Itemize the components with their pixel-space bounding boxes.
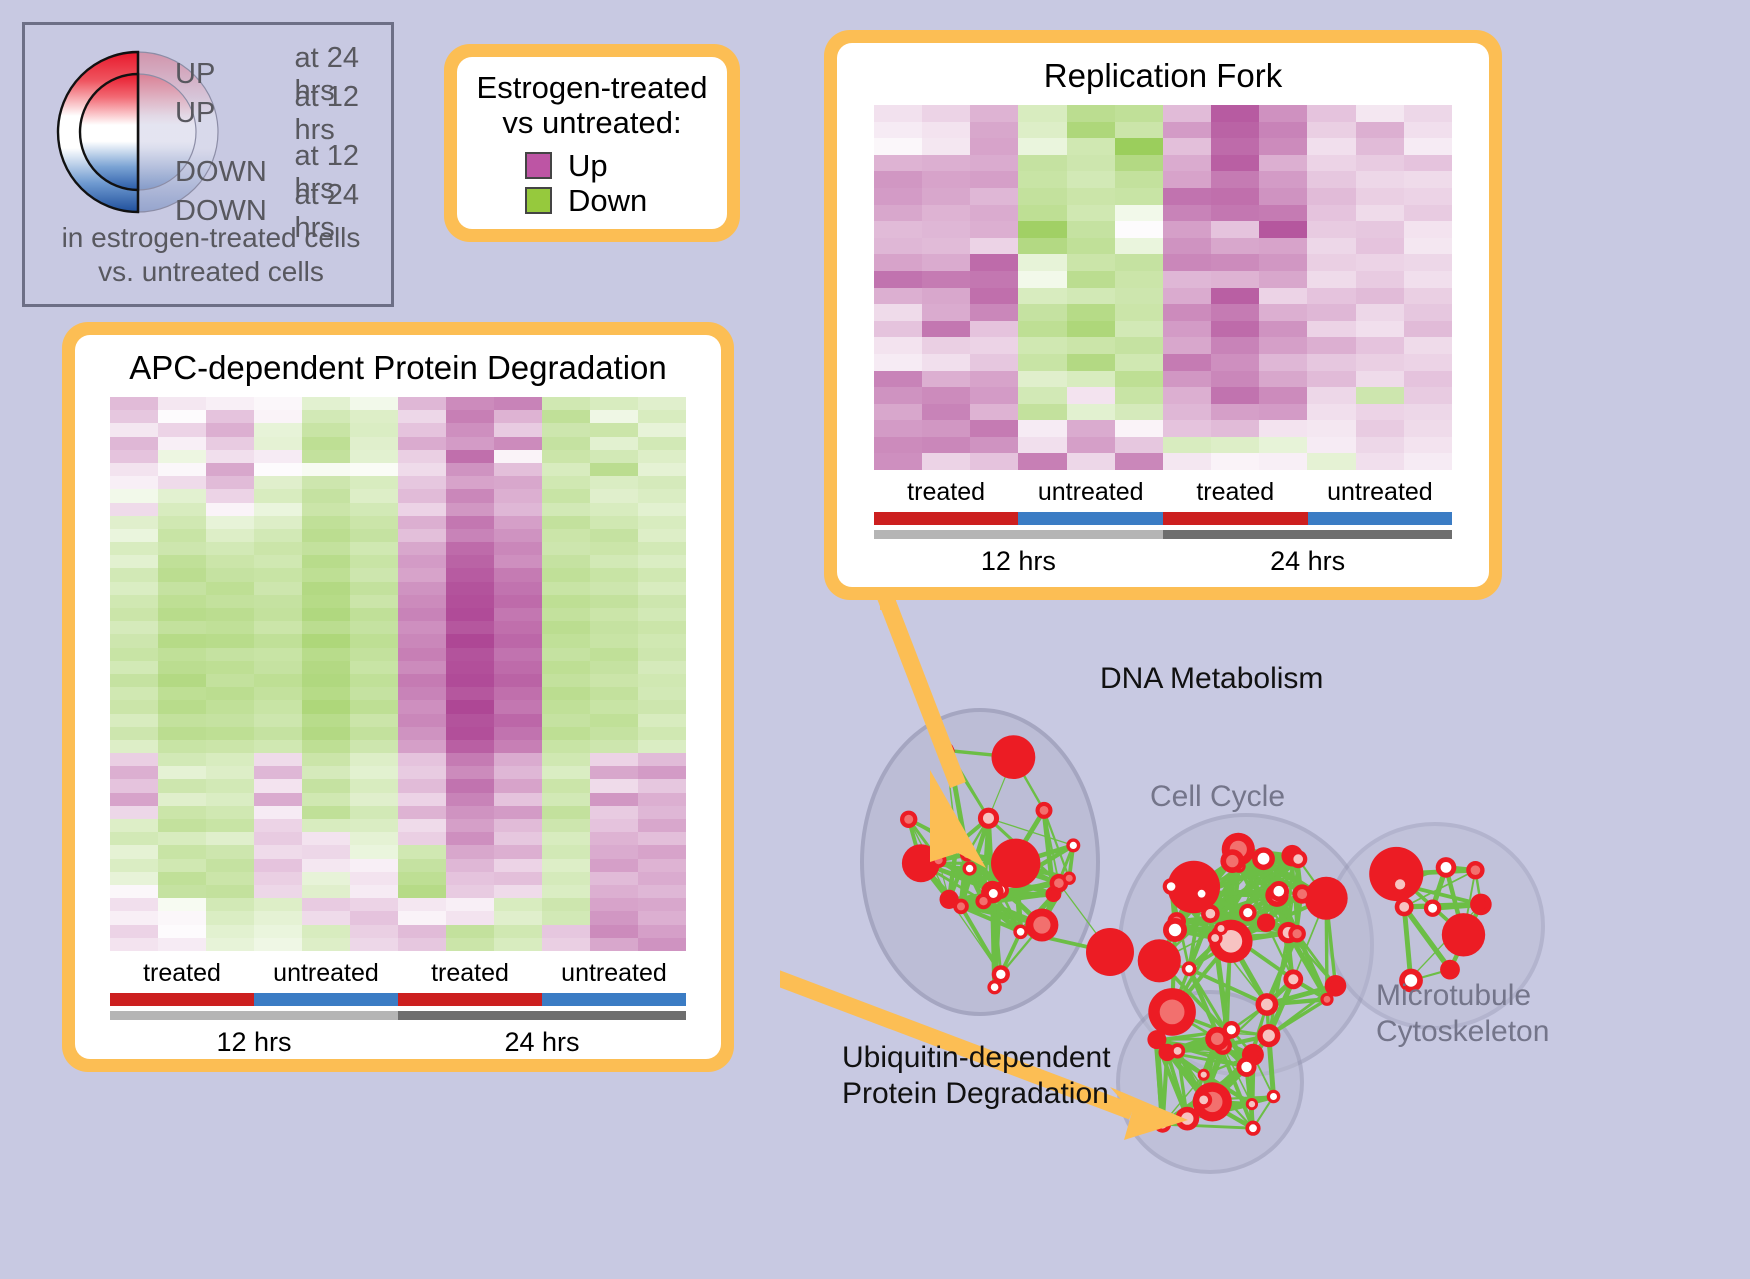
heatmap-cell: [398, 885, 446, 898]
heatmap-cell: [206, 740, 254, 753]
heatmap-cell: [542, 516, 590, 529]
heatmap-cell: [350, 727, 398, 740]
heatmap-cell: [350, 898, 398, 911]
heatmap-cell: [494, 793, 542, 806]
heatmap-cell: [970, 420, 1018, 437]
heatmap-cell: [1018, 105, 1066, 122]
network-node[interactable]: [1013, 925, 1028, 940]
heatmap-cell: [206, 529, 254, 542]
heatmap-cell: [590, 555, 638, 568]
heatmap-cell: [494, 687, 542, 700]
heatmap-cell: [494, 582, 542, 595]
network-node[interactable]: [1470, 894, 1492, 916]
heatmap-cell: [1404, 288, 1452, 305]
heatmap-cell: [1259, 304, 1307, 321]
heatmap-cell: [922, 387, 970, 404]
network-node[interactable]: [1198, 1069, 1210, 1081]
heatmap-cell: [446, 727, 494, 740]
heatmap-cell: [350, 516, 398, 529]
color-legend-inner: Estrogen-treated vs untreated: Up Down: [457, 57, 727, 229]
heatmap-cell: [158, 476, 206, 489]
heatmap-cell: [590, 423, 638, 436]
heatmap-cell: [1211, 437, 1259, 454]
heatmap-cell: [1211, 420, 1259, 437]
heatmap-cell: [1356, 420, 1404, 437]
heatmap-cell: [1067, 122, 1115, 139]
heatmap-cell: [1307, 354, 1355, 371]
heatmap-cell: [350, 397, 398, 410]
heatmap-cell: [590, 463, 638, 476]
heatmap-cell: [1067, 155, 1115, 172]
heatmap-cell: [494, 674, 542, 687]
heatmap-cell: [542, 938, 590, 951]
heatmap-cell: [970, 387, 1018, 404]
heatmap-cell: [1404, 453, 1452, 470]
heatmap-cell: [302, 634, 350, 647]
heatmap-cell: [590, 476, 638, 489]
heatmap-cell: [206, 674, 254, 687]
heatmap-cell: [874, 254, 922, 271]
network-node[interactable]: [992, 735, 1036, 779]
heatmap-cell: [110, 832, 158, 845]
condition-labels: treated untreated treated untreated: [110, 951, 686, 993]
heatmap-cell: [1018, 188, 1066, 205]
color-legend-title: Estrogen-treated vs untreated:: [457, 57, 727, 140]
heatmap-cell: [590, 516, 638, 529]
network-node[interactable]: [975, 893, 991, 909]
heatmap-cell: [158, 845, 206, 858]
network-node[interactable]: [1239, 904, 1257, 922]
heatmap-cell: [638, 779, 686, 792]
heatmap-cell: [158, 621, 206, 634]
heatmap-cell: [302, 700, 350, 713]
heatmap-cell: [302, 938, 350, 951]
network-node[interactable]: [1252, 847, 1275, 870]
heatmap-cell: [1211, 387, 1259, 404]
network-node[interactable]: [1289, 850, 1307, 868]
heatmap-cell: [874, 171, 922, 188]
heatmap-cell: [1356, 105, 1404, 122]
ring-legend-key: UP: [175, 97, 294, 130]
heatmap-cell: [494, 779, 542, 792]
heatmap-cell: [1307, 155, 1355, 172]
heatmap-cell: [254, 819, 302, 832]
heatmap-cell: [158, 410, 206, 423]
heatmap-cell: [1307, 371, 1355, 388]
heatmap-cell: [1018, 453, 1066, 470]
network-node[interactable]: [1246, 1098, 1258, 1110]
heatmap-cell: [1163, 321, 1211, 338]
heatmap-cell: [922, 337, 970, 354]
heatmap-cell: [1259, 387, 1307, 404]
heatmap-cell: [350, 674, 398, 687]
heatmap-cell: [206, 555, 254, 568]
network-node[interactable]: [1283, 969, 1303, 989]
heatmap-cell: [1018, 254, 1066, 271]
heatmap-cell: [254, 423, 302, 436]
heatmap-cell: [1356, 437, 1404, 454]
network-node[interactable]: [1305, 877, 1348, 920]
heatmap-cell: [638, 542, 686, 555]
network-node[interactable]: [1036, 802, 1053, 819]
heatmap-cell: [874, 188, 922, 205]
heatmap-cell: [446, 555, 494, 568]
heatmap-cell: [446, 740, 494, 753]
heatmap-cell: [638, 529, 686, 542]
heatmap-cell: [350, 779, 398, 792]
heatmap-cell: [398, 727, 446, 740]
heatmap-cell: [206, 714, 254, 727]
network-node[interactable]: [978, 808, 999, 829]
heatmap-cell: [1163, 288, 1211, 305]
heatmap-cell: [494, 648, 542, 661]
heatmap-cell: [110, 925, 158, 938]
heatmap-cell: [542, 450, 590, 463]
heatmap-cell: [254, 595, 302, 608]
heatmap-cell: [110, 687, 158, 700]
heatmap-cell: [970, 453, 1018, 470]
heatmap-cell: [922, 453, 970, 470]
heatmap-cell: [1404, 254, 1452, 271]
heatmap-cell: [206, 793, 254, 806]
heatmap-cell: [110, 542, 158, 555]
heatmap-cell: [254, 674, 302, 687]
network-node[interactable]: [1267, 1090, 1281, 1104]
heatmap-cell: [254, 542, 302, 555]
heatmap-cell: [398, 674, 446, 687]
heatmap-cell: [638, 687, 686, 700]
heatmap-cell: [158, 832, 206, 845]
network-node[interactable]: [1194, 886, 1209, 901]
network-node[interactable]: [1086, 928, 1134, 976]
heatmap-cell: [398, 832, 446, 845]
heatmap-cell: [398, 568, 446, 581]
heatmap-cell: [158, 463, 206, 476]
heatmap-cell: [638, 410, 686, 423]
heatmap-cell: [206, 872, 254, 885]
heatmap-cell: [494, 872, 542, 885]
heatmap-cell: [206, 516, 254, 529]
heatmap-cell: [590, 885, 638, 898]
network-node[interactable]: [1046, 886, 1062, 902]
heatmap-cell: [542, 753, 590, 766]
heatmap-cell: [446, 608, 494, 621]
heatmap-cell: [446, 687, 494, 700]
heatmap-cell: [638, 872, 686, 885]
heatmap-cell: [350, 437, 398, 450]
network-node[interactable]: [1063, 872, 1076, 885]
time-label: 24 hrs: [398, 1020, 686, 1058]
heatmap-cell: [542, 437, 590, 450]
network-node[interactable]: [1170, 1043, 1185, 1058]
heatmap-cell: [158, 503, 206, 516]
heatmap-cell: [302, 727, 350, 740]
heatmap-cell: [590, 648, 638, 661]
heatmap-cell: [302, 753, 350, 766]
heatmap-cell: [158, 779, 206, 792]
heatmap-cell: [542, 832, 590, 845]
heatmap-cell: [638, 806, 686, 819]
heatmap-cell: [206, 621, 254, 634]
heatmap-cell: [110, 437, 158, 450]
heatmap-cell: [590, 925, 638, 938]
heatmap-cell: [110, 582, 158, 595]
apc-degradation-title: APC-dependent Protein Degradation: [75, 335, 721, 397]
network-node[interactable]: [1292, 884, 1311, 903]
network-node[interactable]: [1223, 1021, 1241, 1039]
heatmap-cell: [590, 766, 638, 779]
heatmap-cell: [350, 555, 398, 568]
heatmap-cell: [1356, 122, 1404, 139]
heatmap-cell: [158, 898, 206, 911]
heatmap-cell: [1404, 304, 1452, 321]
heatmap-cell: [158, 608, 206, 621]
network-node[interactable]: [1256, 993, 1279, 1016]
condition-bar-segment: [254, 993, 398, 1006]
heatmap-cell: [1163, 155, 1211, 172]
heatmap-cell: [1163, 221, 1211, 238]
network-node[interactable]: [1220, 849, 1244, 873]
heatmap-cell: [446, 898, 494, 911]
network-node[interactable]: [1269, 881, 1289, 901]
heatmap-cell: [638, 925, 686, 938]
heatmap-cell: [1018, 238, 1066, 255]
heatmap-cell: [206, 489, 254, 502]
heatmap-cell: [398, 687, 446, 700]
heatmap-cell: [110, 740, 158, 753]
heatmap-cell: [446, 766, 494, 779]
network-node[interactable]: [1214, 922, 1228, 936]
heatmap-cell: [1067, 420, 1115, 437]
network-node[interactable]: [1138, 939, 1181, 982]
heatmap-cell: [1404, 387, 1452, 404]
network-node[interactable]: [1257, 1024, 1280, 1047]
heatmap-cell: [542, 661, 590, 674]
heatmap-cell: [638, 766, 686, 779]
heatmap-cell: [110, 806, 158, 819]
heatmap-cell: [254, 885, 302, 898]
heatmap-cell: [254, 872, 302, 885]
network-node[interactable]: [1163, 918, 1187, 942]
heatmap-cell: [1163, 271, 1211, 288]
heatmap-cell: [398, 740, 446, 753]
heatmap-cell: [590, 727, 638, 740]
heatmap-cell: [922, 288, 970, 305]
network-node[interactable]: [1424, 900, 1441, 917]
heatmap-cell: [206, 634, 254, 647]
network-node[interactable]: [1442, 913, 1485, 956]
heatmap-cell: [254, 621, 302, 634]
network-node[interactable]: [1195, 1091, 1212, 1108]
heatmap-cell: [1018, 321, 1066, 338]
heatmap-cell: [1115, 171, 1163, 188]
heatmap-cell: [254, 687, 302, 700]
heatmap-cell: [158, 938, 206, 951]
heatmap-cell: [1356, 254, 1404, 271]
heatmap-cell: [110, 648, 158, 661]
heatmap-cell: [1307, 171, 1355, 188]
heatmap-cell: [590, 674, 638, 687]
heatmap-cell: [1307, 221, 1355, 238]
condition-bar-segment: [110, 993, 254, 1006]
heatmap-cell: [638, 595, 686, 608]
network-node[interactable]: [1325, 975, 1347, 997]
heatmap-cell: [542, 503, 590, 516]
heatmap-cell: [350, 700, 398, 713]
heatmap-cell: [446, 397, 494, 410]
heatmap-cell: [398, 542, 446, 555]
heatmap-cell: [398, 634, 446, 647]
heatmap-cell: [446, 648, 494, 661]
heatmap-cell: [398, 661, 446, 674]
network-node[interactable]: [1390, 875, 1410, 895]
network-node[interactable]: [1066, 838, 1080, 852]
ring-legend-footer-line2: vs. untreated cells: [25, 255, 397, 289]
heatmap-cell: [1307, 205, 1355, 222]
heatmap-cell: [302, 845, 350, 858]
heatmap-cell: [1067, 321, 1115, 338]
heatmap-cell: [1115, 188, 1163, 205]
heatmap-cell: [446, 621, 494, 634]
heatmap-cell: [1356, 354, 1404, 371]
heatmap-cell: [542, 582, 590, 595]
heatmap-cell: [158, 674, 206, 687]
condition-label: untreated: [254, 951, 398, 993]
network-node[interactable]: [1148, 988, 1196, 1036]
cluster-label-cell-cycle: Cell Cycle: [1150, 780, 1285, 814]
heatmap-cell: [158, 582, 206, 595]
heatmap-cell: [494, 516, 542, 529]
network-node[interactable]: [1395, 897, 1414, 916]
network-node[interactable]: [992, 965, 1010, 983]
heatmap-cell: [254, 898, 302, 911]
heatmap-cell: [1115, 437, 1163, 454]
network-node[interactable]: [1288, 925, 1306, 943]
heatmap-cell: [542, 397, 590, 410]
heatmap-cell: [1163, 205, 1211, 222]
heatmap-cell: [494, 700, 542, 713]
heatmap-cell: [110, 793, 158, 806]
heatmap-cell: [302, 648, 350, 661]
heatmap-cell: [350, 845, 398, 858]
network-node[interactable]: [953, 899, 969, 915]
network-node[interactable]: [1436, 857, 1457, 878]
condition-color-bar: [874, 512, 1452, 525]
heatmap-cell: [1356, 387, 1404, 404]
heatmap-cell: [398, 872, 446, 885]
heatmap-cell: [158, 885, 206, 898]
heatmap-cell: [638, 661, 686, 674]
heatmap-cell: [1018, 437, 1066, 454]
heatmap-cell: [254, 806, 302, 819]
heatmap-cell: [922, 171, 970, 188]
heatmap-cell: [970, 404, 1018, 421]
heatmap-cell: [874, 221, 922, 238]
heatmap-cell: [922, 122, 970, 139]
heatmap-cell: [1259, 205, 1307, 222]
heatmap-cell: [446, 938, 494, 951]
network-node[interactable]: [1163, 878, 1180, 895]
heatmap-cell: [1404, 138, 1452, 155]
heatmap-cell: [494, 489, 542, 502]
heatmap-cell: [1018, 122, 1066, 139]
network-node[interactable]: [1201, 904, 1220, 923]
heatmap-cell: [206, 898, 254, 911]
heatmap-cell: [922, 188, 970, 205]
heatmap-cell: [1115, 354, 1163, 371]
heatmap-cell: [1115, 304, 1163, 321]
heatmap-cell: [350, 410, 398, 423]
time-color-bar: [874, 530, 1452, 539]
heatmap-cell: [1211, 155, 1259, 172]
heatmap-cell: [638, 568, 686, 581]
heatmap-cell: [350, 661, 398, 674]
heatmap-cell: [1018, 138, 1066, 155]
apc-degradation-panel: APC-dependent Protein Degradation treate…: [62, 322, 734, 1072]
heatmap-cell: [446, 476, 494, 489]
heatmap-cell: [542, 819, 590, 832]
network-node[interactable]: [1440, 960, 1460, 980]
heatmap-cell: [446, 634, 494, 647]
heatmap-cell: [1211, 105, 1259, 122]
heatmap-cell: [206, 779, 254, 792]
network-node[interactable]: [1025, 909, 1058, 942]
heatmap-cell: [110, 489, 158, 502]
heatmap-cell: [446, 529, 494, 542]
heatmap-cell: [1356, 321, 1404, 338]
network-node[interactable]: [963, 861, 977, 875]
heatmap-cell: [158, 740, 206, 753]
heatmap-cell: [446, 450, 494, 463]
network-node[interactable]: [1257, 914, 1275, 932]
heatmap-cell: [874, 122, 922, 139]
network-node[interactable]: [1245, 1121, 1260, 1136]
heatmap-cell: [590, 832, 638, 845]
network-node[interactable]: [1466, 861, 1484, 879]
heatmap-cell: [158, 397, 206, 410]
network-node[interactable]: [1237, 1057, 1257, 1077]
heatmap-cell: [494, 938, 542, 951]
network-node[interactable]: [991, 839, 1040, 888]
heatmap-cell: [874, 371, 922, 388]
heatmap-cell: [302, 661, 350, 674]
heatmap-cell: [638, 714, 686, 727]
heatmap-cell: [350, 872, 398, 885]
heatmap-cell: [110, 766, 158, 779]
heatmap-cell: [1356, 404, 1404, 421]
heatmap-cell: [1404, 188, 1452, 205]
heatmap-cell: [1211, 321, 1259, 338]
heatmap-cell: [110, 397, 158, 410]
heatmap-cell: [1211, 271, 1259, 288]
heatmap-cell: [542, 911, 590, 924]
heatmap-cell: [206, 463, 254, 476]
heatmap-cell: [206, 503, 254, 516]
heatmap-cell: [158, 437, 206, 450]
heatmap-cell: [638, 634, 686, 647]
heatmap-cell: [1404, 321, 1452, 338]
heatmap-cell: [1211, 122, 1259, 139]
heatmap-cell: [158, 595, 206, 608]
heatmap-cell: [638, 938, 686, 951]
heatmap-cell: [110, 516, 158, 529]
network-node[interactable]: [900, 811, 917, 828]
heatmap-cell: [302, 806, 350, 819]
heatmap-cell: [302, 859, 350, 872]
ring-legend-value: at 12 hrs: [294, 81, 405, 147]
heatmap-cell: [874, 404, 922, 421]
network-node[interactable]: [1182, 961, 1197, 976]
